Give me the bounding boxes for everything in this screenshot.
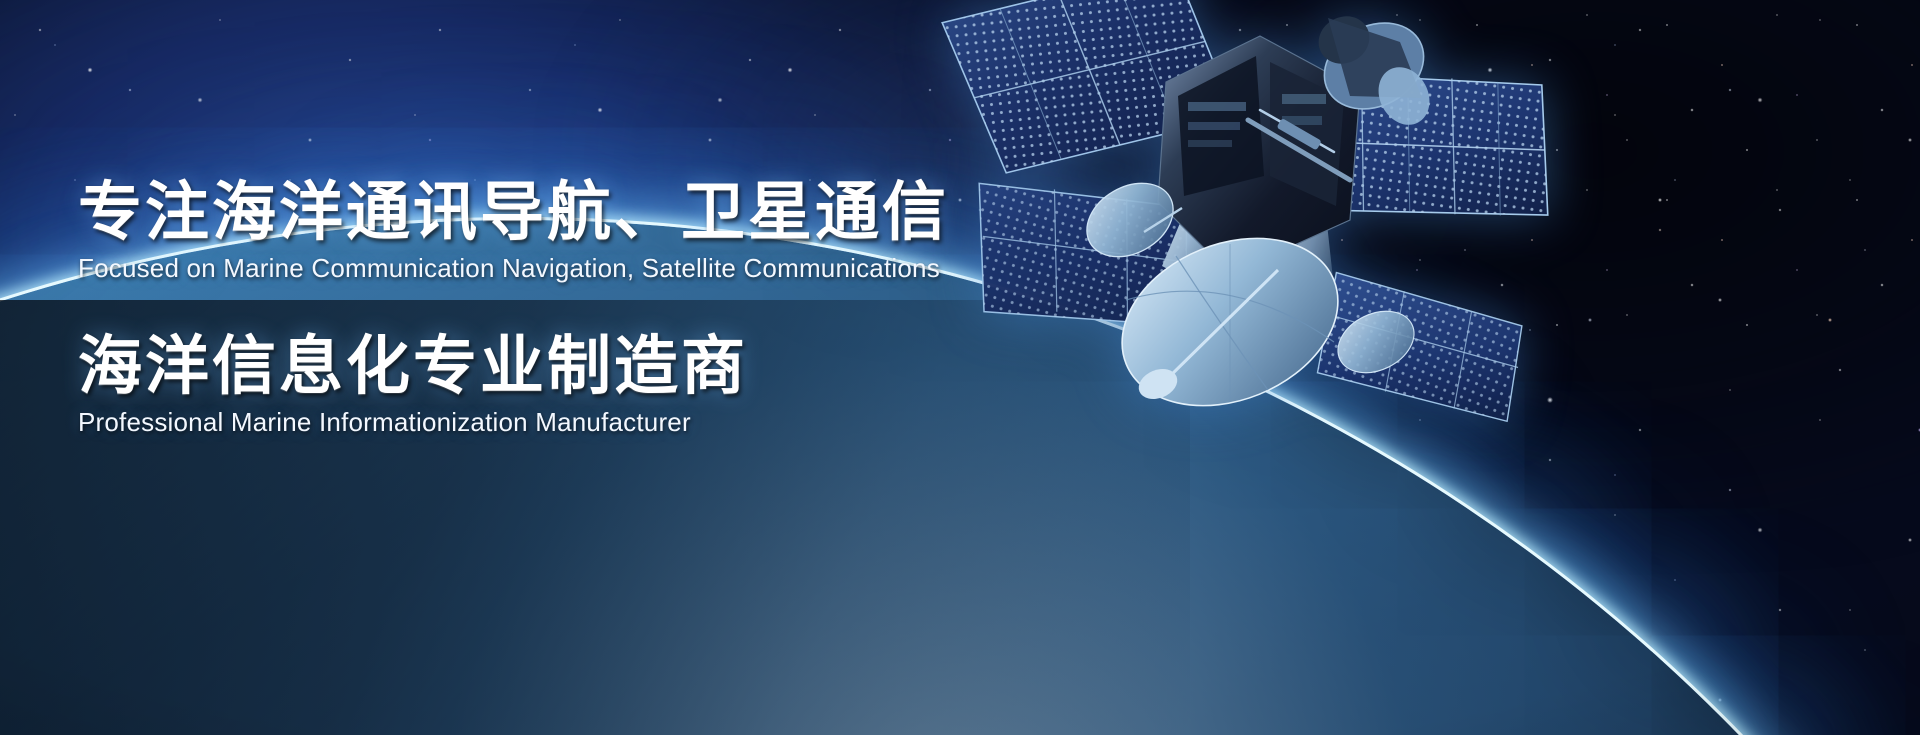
headline-1-cn: 专注海洋通讯导航、卫星通信	[78, 178, 1078, 247]
headline-2-en: Professional Marine Informationization M…	[78, 407, 1078, 438]
headline-block-1: 专注海洋通讯导航、卫星通信 Focused on Marine Communic…	[78, 178, 1078, 284]
headline-block-2: 海洋信息化专业制造商 Professional Marine Informati…	[78, 332, 1078, 438]
hero-banner: 专注海洋通讯导航、卫星通信 Focused on Marine Communic…	[0, 0, 1920, 735]
hero-copy: 专注海洋通讯导航、卫星通信 Focused on Marine Communic…	[78, 178, 1078, 438]
headline-1-en: Focused on Marine Communication Navigati…	[78, 253, 1078, 284]
headline-2-cn: 海洋信息化专业制造商	[78, 332, 1078, 401]
